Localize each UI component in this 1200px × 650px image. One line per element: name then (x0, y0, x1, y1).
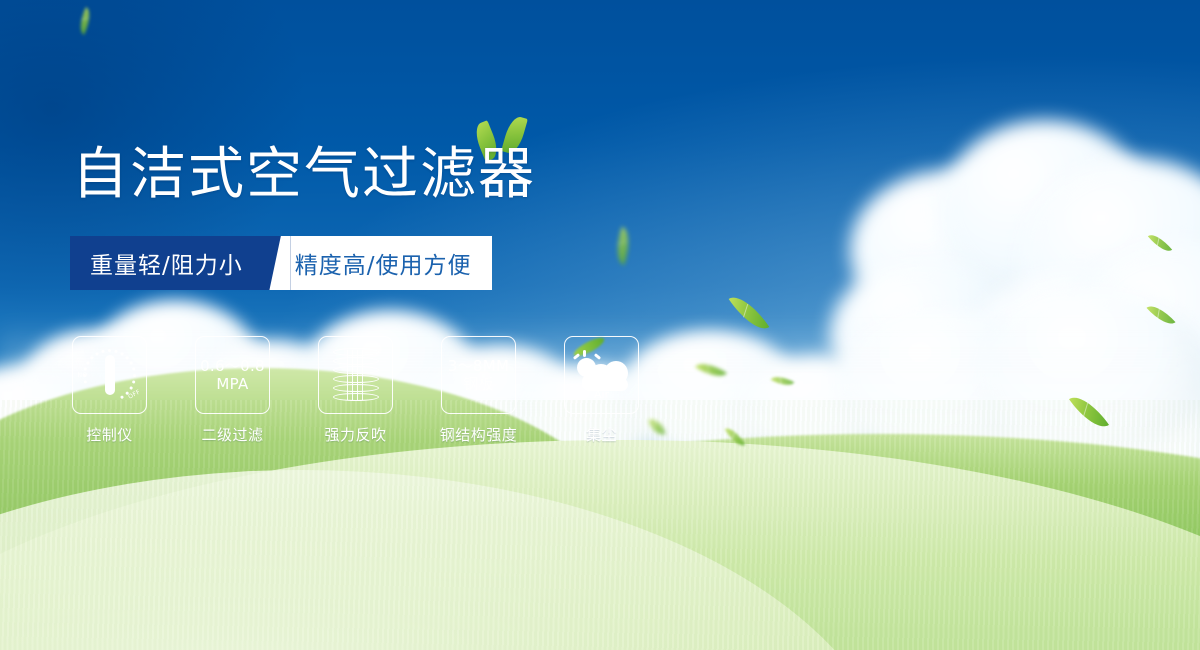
feature-item-backflush[interactable]: 强力反吹 (318, 336, 393, 445)
subtitle-left: 重量轻/阻力小 (70, 236, 265, 290)
cloud-air-icon: Air (574, 352, 630, 398)
gauge-needle (105, 355, 115, 395)
feature-label: 集尘 (586, 424, 617, 445)
page-title: 自洁式空气过滤器 (72, 146, 536, 205)
feature-icon-box: 3～8MM 钢板 (441, 336, 516, 414)
feature-item-steel-strength[interactable]: 3～8MM 钢板 钢结构强度 (441, 336, 516, 445)
steel-value-line2: 钢板 (463, 375, 494, 393)
feature-label: 钢结构强度 (440, 424, 518, 445)
subtitle-bar: 重量轻/阻力小 精度高/使用方便 (70, 236, 492, 290)
gauge-label-off: OFF (127, 388, 142, 400)
subtitle-diagonal-divider (265, 236, 291, 290)
steel-value-line1: 3～8MM (448, 357, 509, 375)
gauge-label-no: NO (78, 372, 88, 379)
feature-icon-box: Air (564, 336, 639, 414)
pressure-value-line2: MPA (216, 375, 248, 393)
feature-item-two-stage-filter[interactable]: 0.6～0.8 MPA 二级过滤 (195, 336, 270, 445)
feature-label: 强力反吹 (324, 424, 386, 445)
product-hero-banner: 自洁式空气过滤器 重量轻/阻力小 精度高/使用方便 (0, 0, 1200, 650)
feature-label: 二级过滤 (201, 424, 263, 445)
gauge-dial-icon: NO OFF (81, 346, 139, 404)
feature-icon-box (318, 336, 393, 414)
air-label: Air (574, 388, 630, 401)
feature-item-controller[interactable]: NO OFF 控制仪 (72, 336, 147, 445)
subtitle-right: 精度高/使用方便 (291, 236, 492, 290)
feature-icon-box: NO OFF (72, 336, 147, 414)
coil-filter-icon (333, 348, 379, 402)
feature-item-dust-collection[interactable]: Air 集尘 (564, 336, 639, 445)
feature-label: 控制仪 (86, 424, 133, 445)
pressure-value-line1: 0.6～0.8 (200, 357, 265, 375)
feature-icon-box: 0.6～0.8 MPA (195, 336, 270, 414)
feature-list: NO OFF 控制仪 0.6～0.8 MPA 二级过滤 (72, 336, 639, 445)
